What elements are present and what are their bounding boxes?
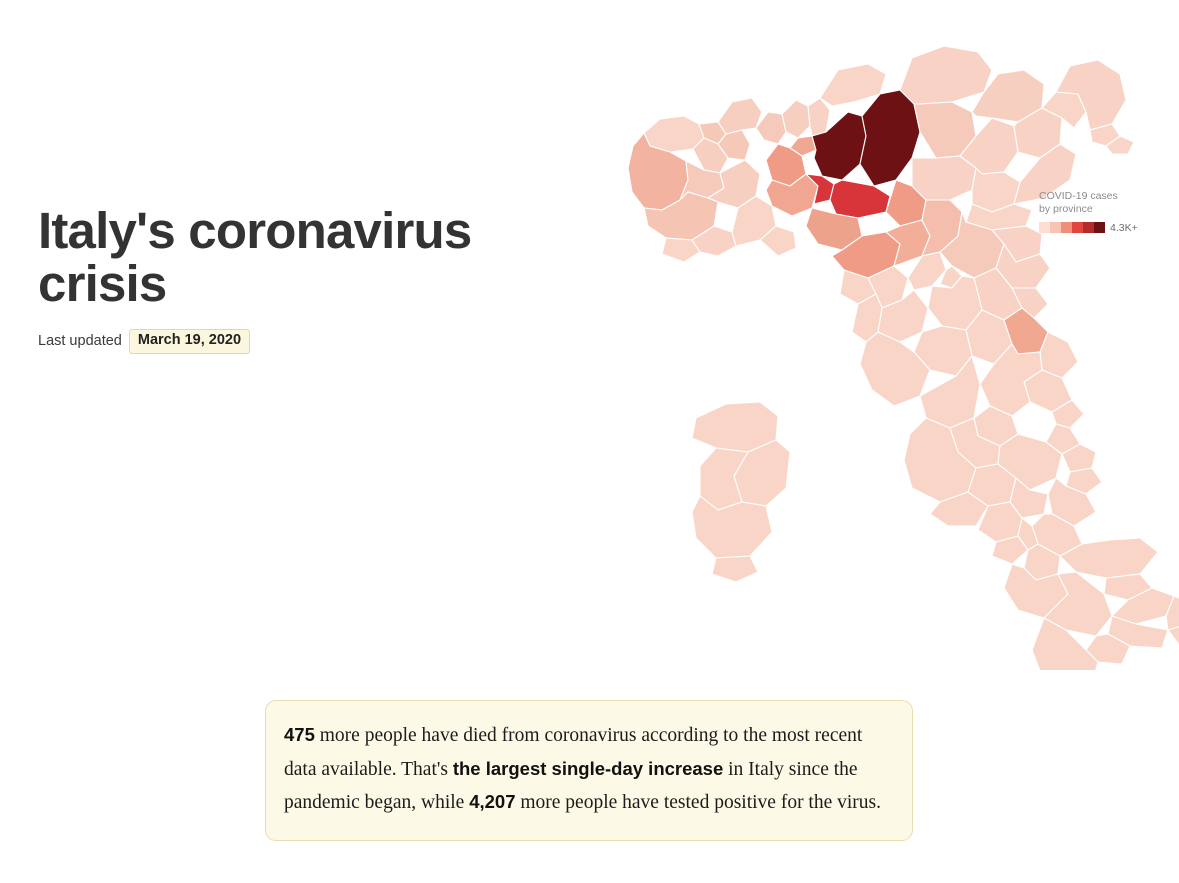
legend-swatch-4: [1072, 222, 1083, 233]
legend-swatch-6: [1094, 222, 1105, 233]
province-cagliari[interactable]: [712, 556, 758, 582]
province-como[interactable]: [782, 100, 810, 138]
callout-text: 475 more people have died from coronavir…: [284, 719, 890, 820]
last-updated-row: Last updated March 19, 2020: [38, 329, 508, 353]
province-bolzano[interactable]: [900, 46, 992, 104]
headline-block: Italy's coronavirus crisis Last updated …: [38, 204, 508, 353]
province-brescia[interactable]: [860, 90, 920, 186]
callout-text-part-3: more people have tested positive for the…: [520, 792, 881, 813]
province-shapes[interactable]: [628, 46, 1179, 670]
province-sud-sardegna[interactable]: [692, 496, 772, 558]
province-lecco[interactable]: [808, 98, 830, 136]
callout-emphasis: the largest single-day increase: [453, 758, 723, 779]
legend-max-label: 4.3K+: [1110, 222, 1138, 234]
last-updated-label: Last updated: [38, 333, 122, 349]
italy-choropleth-map[interactable]: [600, 40, 1179, 670]
legend-scale-row: 4.3K+: [1039, 222, 1169, 234]
deaths-value: 475: [284, 724, 315, 745]
legend-swatch-2: [1050, 222, 1061, 233]
callout-box: 475 more people have died from coronavir…: [265, 700, 913, 841]
cases-value: 4,207: [469, 791, 515, 812]
province-cremona[interactable]: [830, 180, 890, 218]
page-title: Italy's coronavirus crisis: [38, 204, 508, 310]
legend-swatch-5: [1083, 222, 1094, 233]
map-legend: COVID-19 cases by province 4.3K+: [1039, 190, 1169, 234]
legend-swatch-1: [1039, 222, 1050, 233]
legend-title: COVID-19 cases by province: [1039, 190, 1169, 217]
legend-swatch-3: [1061, 222, 1072, 233]
last-updated-date-badge: March 19, 2020: [129, 329, 250, 354]
province-vco[interactable]: [718, 98, 762, 134]
province-verona[interactable]: [912, 156, 976, 200]
legend-color-swatches: [1039, 222, 1105, 233]
italy-map-svg[interactable]: [600, 40, 1179, 670]
